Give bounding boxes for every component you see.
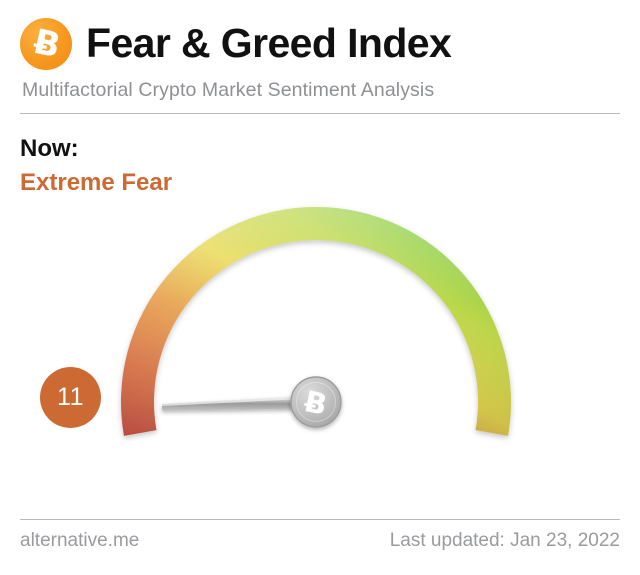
- header: Ƀ Fear & Greed Index Multifactorial Cryp…: [20, 18, 620, 102]
- fear-greed-index-card: Ƀ Fear & Greed Index Multifactorial Cryp…: [0, 0, 640, 575]
- needle-hub: Ƀ: [291, 377, 341, 427]
- gauge-svg: Ƀ: [0, 180, 640, 510]
- index-value-badge: 11: [40, 367, 101, 428]
- footer-divider: [20, 519, 620, 520]
- gauge-chart: Ƀ: [0, 180, 640, 510]
- bitcoin-glyph: Ƀ: [30, 25, 61, 63]
- bitcoin-icon: Ƀ: [20, 18, 72, 70]
- header-divider: [20, 113, 620, 114]
- last-updated: Last updated: Jan 23, 2022: [390, 530, 620, 552]
- page-title: Fear & Greed Index: [86, 22, 451, 65]
- footer: alternative.me Last updated: Jan 23, 202…: [20, 530, 620, 552]
- source-site[interactable]: alternative.me: [20, 530, 139, 552]
- now-label: Now:: [20, 134, 172, 165]
- page-subtitle: Multifactorial Crypto Market Sentiment A…: [22, 79, 620, 102]
- index-value: 11: [57, 385, 84, 410]
- title-row: Ƀ Fear & Greed Index: [20, 18, 620, 70]
